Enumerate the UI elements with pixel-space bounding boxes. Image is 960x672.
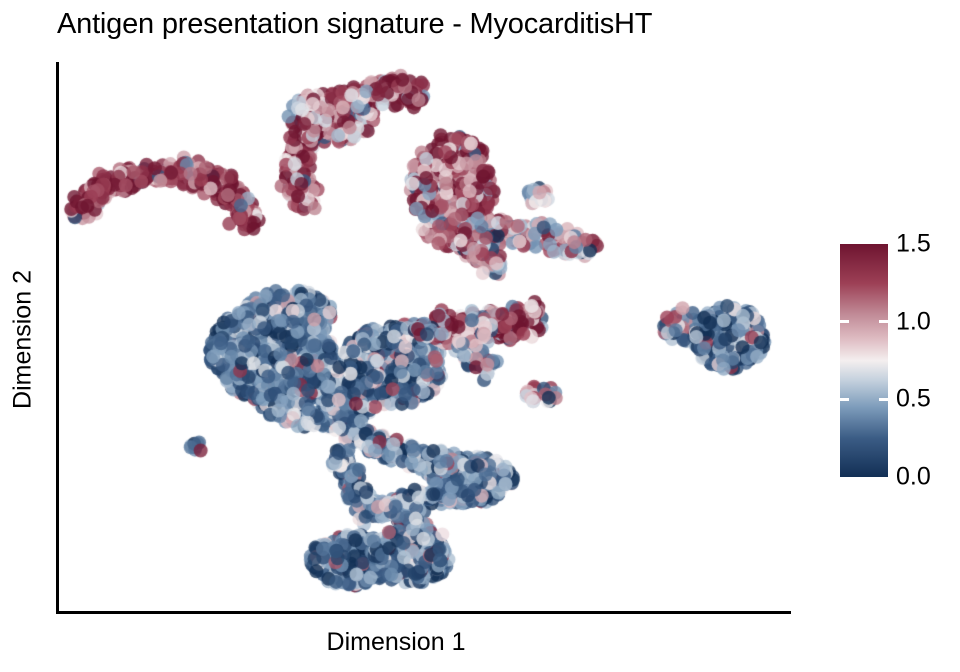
colorbar-tick-label: 0.0 (896, 463, 931, 492)
colorbar-tick-mark (840, 398, 849, 401)
colorbar-tick-label: 0.5 (896, 385, 931, 414)
x-axis-line (56, 611, 791, 614)
colorbar-tick-label: 1.5 (896, 230, 931, 259)
x-axis-label: Dimension 1 (0, 628, 792, 657)
colorbar-gradient (840, 244, 888, 477)
colorbar-tick-mark (879, 320, 888, 323)
colorbar-tick-mark (840, 320, 849, 323)
scatter-plot-points (57, 62, 792, 611)
y-axis-label: Dimension 2 (9, 64, 38, 616)
colorbar-tick-label: 1.0 (896, 307, 931, 336)
page-title: Antigen presentation signature - Myocard… (57, 8, 652, 41)
colorbar-tick-mark (879, 398, 888, 401)
figure-canvas: Antigen presentation signature - Myocard… (0, 0, 960, 672)
